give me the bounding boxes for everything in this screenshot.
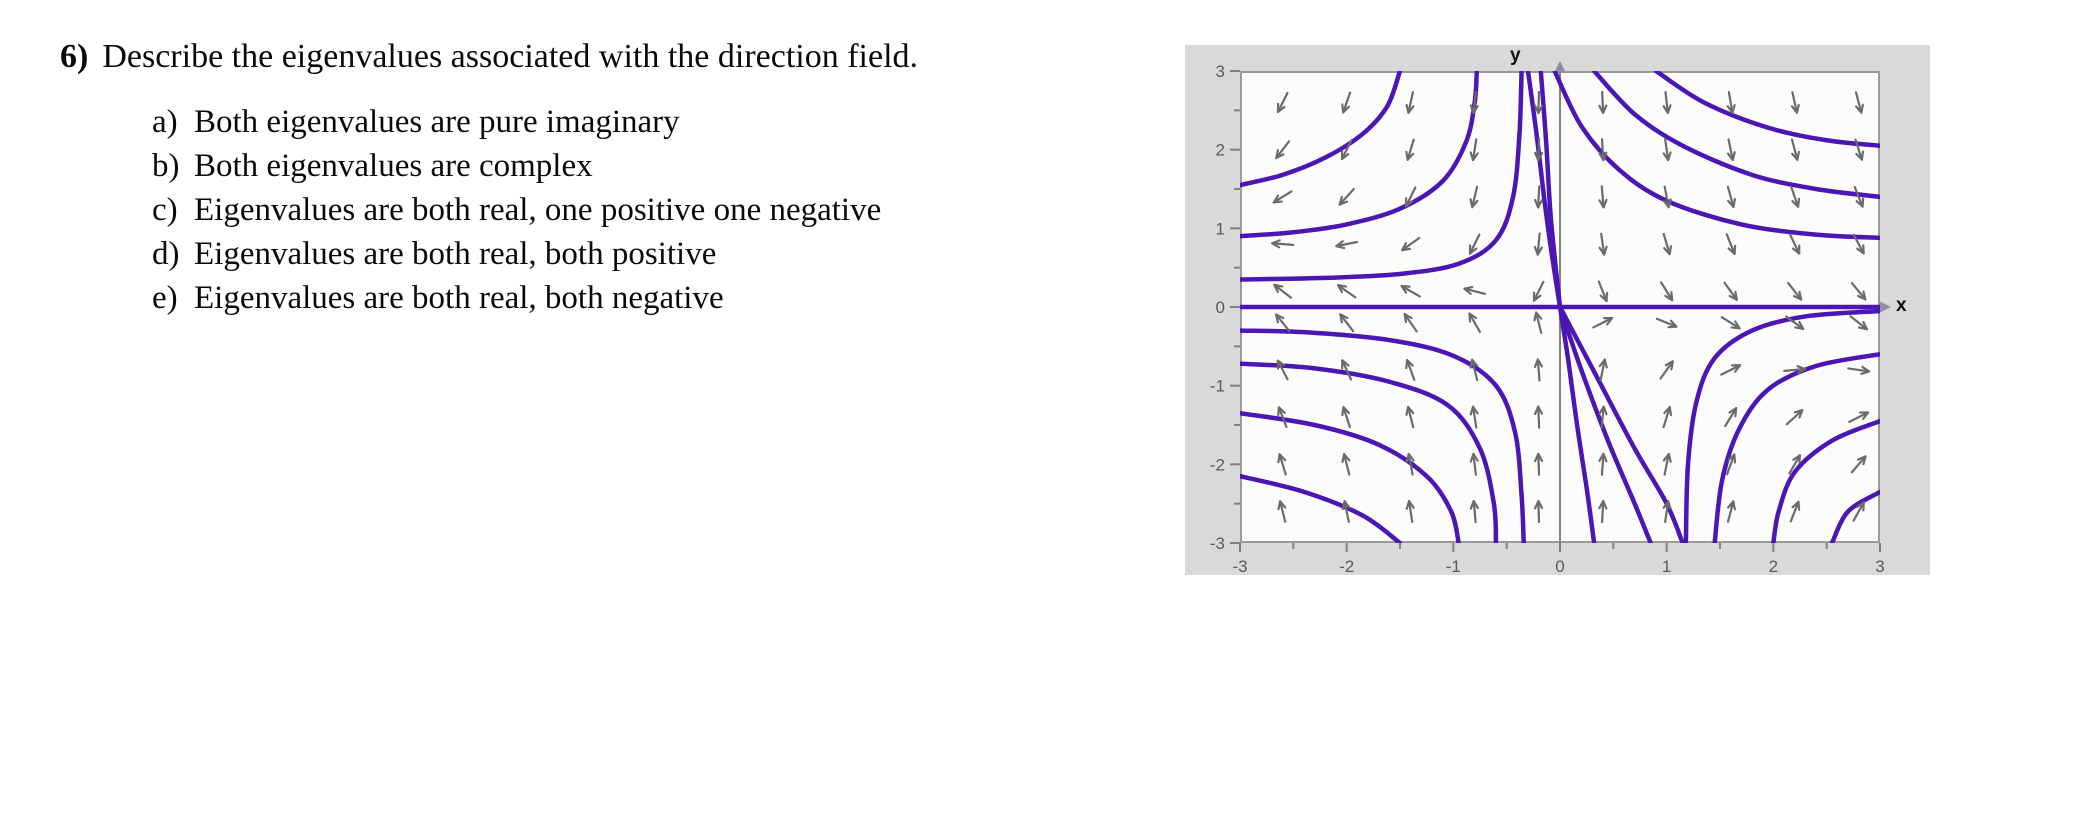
svg-text:-3: -3 [1232, 557, 1247, 575]
choice-letter-e: e) [152, 280, 194, 317]
svg-text:-2: -2 [1339, 557, 1354, 575]
phase-portrait-svg: 3210-1-2-3-3-2-10123 [1185, 45, 1930, 575]
choice-option-b[interactable]: b) Both eigenvalues are complex [152, 148, 1140, 185]
svg-text:-1: -1 [1210, 377, 1225, 396]
svg-text:0: 0 [1555, 557, 1564, 575]
choice-text-c: Eigenvalues are both real, one positive … [194, 192, 881, 229]
question-number: 6) [60, 38, 88, 76]
choice-letter-a: a) [152, 104, 194, 141]
svg-text:2: 2 [1216, 141, 1225, 160]
choice-option-d[interactable]: d) Eigenvalues are both real, both posit… [152, 236, 1140, 273]
question-prompt: Describe the eigenvalues associated with… [102, 38, 918, 76]
choice-option-a[interactable]: a) Both eigenvalues are pure imaginary [152, 104, 1140, 141]
svg-text:1: 1 [1216, 219, 1225, 238]
svg-text:2: 2 [1769, 557, 1778, 575]
y-axis-title: y [1510, 45, 1521, 67]
choice-text-a: Both eigenvalues are pure imaginary [194, 104, 680, 141]
svg-text:-3: -3 [1210, 534, 1225, 553]
choice-letter-c: c) [152, 192, 194, 229]
choice-letter-d: d) [152, 236, 194, 273]
choice-letter-b: b) [152, 148, 194, 185]
svg-text:-1: -1 [1446, 557, 1461, 575]
choice-text-d: Eigenvalues are both real, both positive [194, 236, 716, 273]
x-axis-title: x [1896, 295, 1907, 317]
direction-field-plot: 3210-1-2-3-3-2-10123 y x [1185, 45, 1930, 575]
svg-text:3: 3 [1875, 557, 1884, 575]
svg-text:0: 0 [1216, 298, 1225, 317]
svg-text:-2: -2 [1210, 455, 1225, 474]
choice-text-b: Both eigenvalues are complex [194, 148, 593, 185]
choice-option-e[interactable]: e) Eigenvalues are both real, both negat… [152, 280, 1140, 317]
choice-list: a) Both eigenvalues are pure imaginary b… [152, 104, 1140, 317]
question-block: 6) Describe the eigenvalues associated w… [60, 38, 1140, 324]
svg-text:1: 1 [1662, 557, 1671, 575]
question-line: 6) Describe the eigenvalues associated w… [60, 38, 1140, 76]
choice-text-e: Eigenvalues are both real, both negative [194, 280, 724, 317]
page-root: 6) Describe the eigenvalues associated w… [0, 0, 2088, 824]
choice-option-c[interactable]: c) Eigenvalues are both real, one positi… [152, 192, 1140, 229]
svg-text:3: 3 [1216, 62, 1225, 81]
